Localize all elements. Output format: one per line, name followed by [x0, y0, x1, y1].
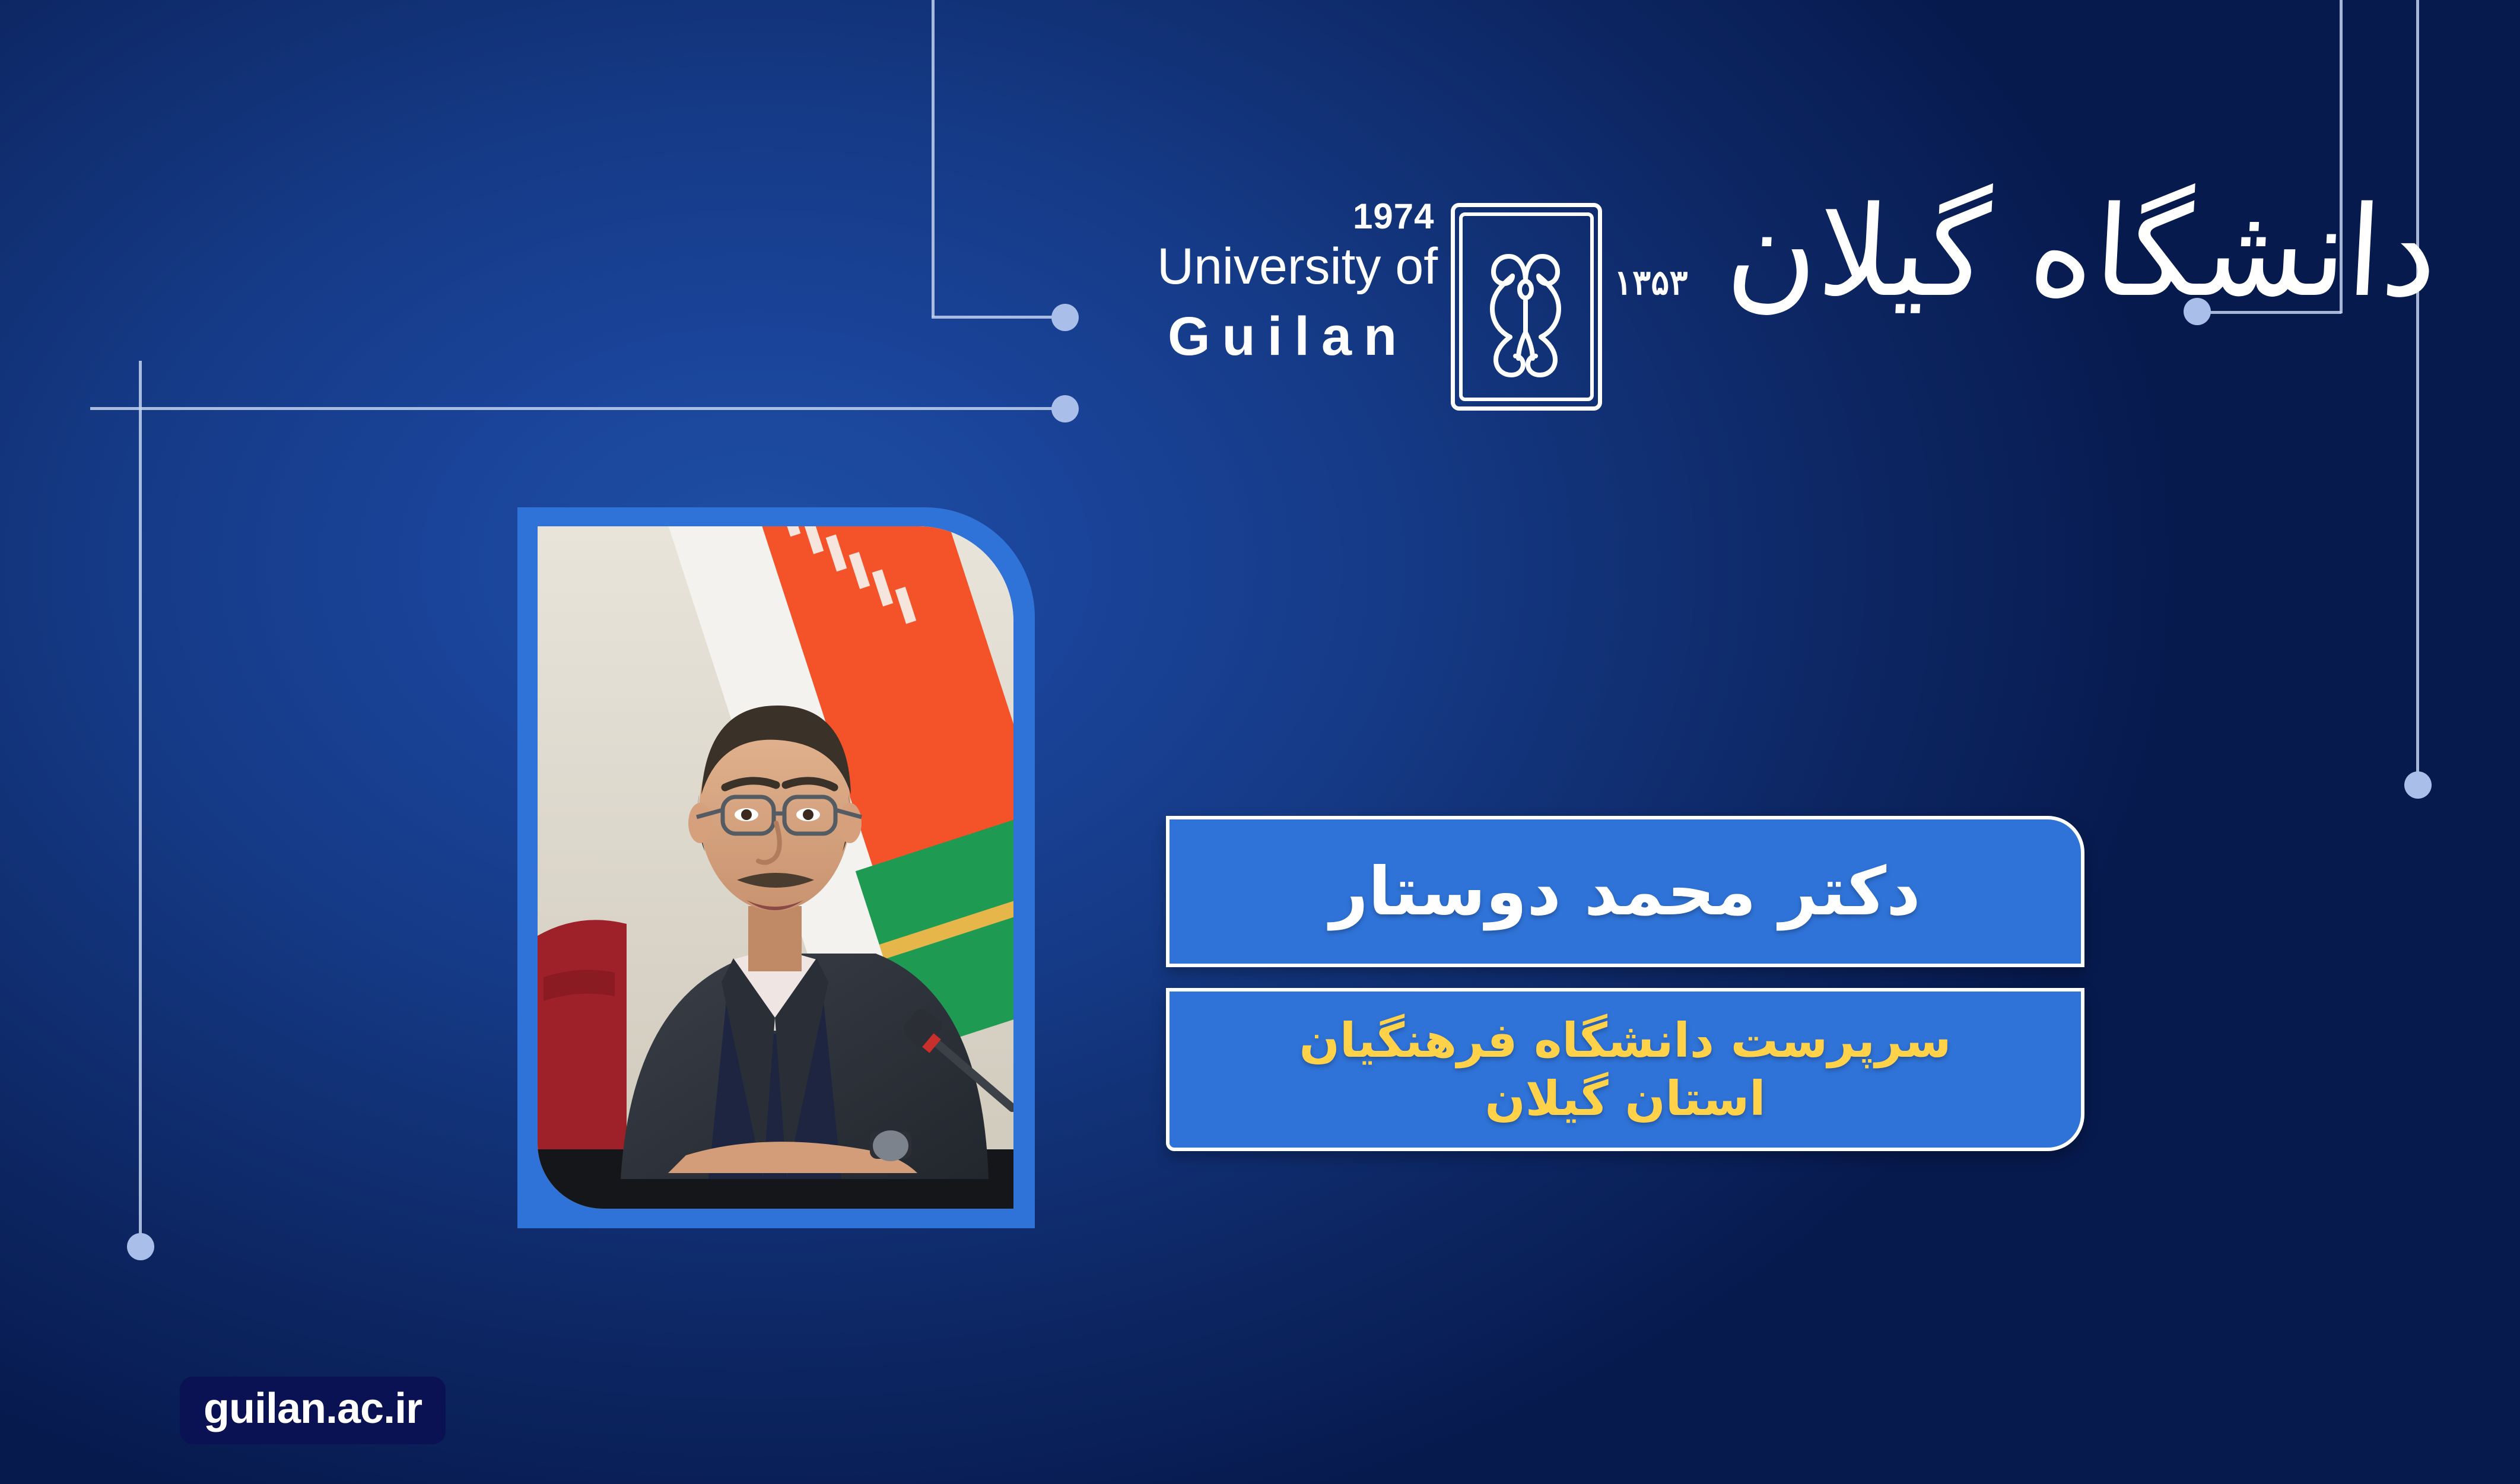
logo-university-of-text: University of	[1157, 237, 1438, 296]
logo-persian-name: دانشگاه گیلان	[1723, 190, 2440, 314]
deco-hline-top-center	[932, 316, 1067, 319]
logo-year-persian: ۱۳۵۳	[1614, 262, 1688, 303]
person-role-line1: سرپرست دانشگاه فرهنگیان	[1299, 1012, 1952, 1070]
deco-dot-left-long	[1051, 395, 1079, 422]
portrait-frame	[517, 507, 1035, 1228]
deco-dot-top-center	[1051, 304, 1079, 331]
guilan-university-emblem-icon	[1451, 203, 1602, 411]
portrait-photo	[538, 526, 1013, 1209]
logo-year-gregorian: 1974	[1353, 196, 1434, 237]
person-role-banner: سرپرست دانشگاه فرهنگیان استان گیلان	[1166, 988, 2084, 1151]
person-name-banner: دکتر محمد دوستار	[1166, 816, 2084, 967]
deco-vline-far-right	[2416, 0, 2419, 778]
deco-dot-bottom-left	[127, 1233, 154, 1260]
university-logo: 1974 University of Guilan ۱۳۵۳ دانشگاه گ…	[1157, 196, 2083, 433]
deco-vline-top-center	[932, 0, 935, 317]
deco-vline-left	[139, 361, 142, 1239]
poster-canvas: 1974 University of Guilan ۱۳۵۳ دانشگاه گ…	[0, 0, 2520, 1484]
website-url-text: guilan.ac.ir	[204, 1387, 422, 1430]
person-name-text: دکتر محمد دوستار	[1330, 859, 1920, 925]
website-badge[interactable]: guilan.ac.ir	[180, 1377, 446, 1444]
person-role-line2: استان گیلان	[1485, 1070, 1765, 1128]
logo-guilan-text: Guilan	[1168, 306, 1409, 368]
deco-dot-far-right	[2404, 771, 2432, 799]
deco-hline-left-long	[90, 407, 1068, 410]
